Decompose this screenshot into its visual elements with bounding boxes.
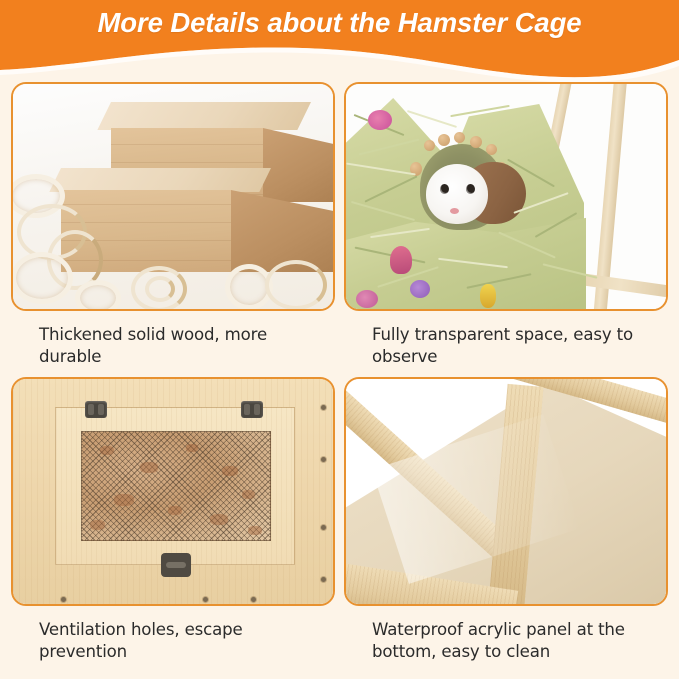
caption-acrylic: Waterproof acrylic panel at the bottom, … — [344, 619, 668, 662]
detail-card-acrylic: Waterproof acrylic panel at the bottom, … — [344, 377, 668, 662]
photo-frame-solid-wood — [11, 82, 335, 311]
hamster-nose — [450, 208, 459, 214]
caption-ventilation: Ventilation holes, escape prevention — [11, 619, 335, 662]
dried-flower — [368, 110, 392, 130]
wood-pellet — [438, 134, 450, 146]
wire-mesh-panel — [81, 431, 271, 541]
screw — [61, 597, 66, 602]
hamster-head — [426, 164, 488, 224]
lid-latch — [161, 553, 191, 577]
caption-solid-wood: Thickened solid wood, more durable — [11, 324, 335, 367]
screw — [321, 577, 326, 582]
photo-ventilation-lid — [13, 379, 333, 604]
detail-card-ventilation: Ventilation holes, escape prevention — [11, 377, 335, 662]
dried-flower — [410, 280, 430, 298]
details-grid: Thickened solid wood, more durable — [0, 82, 679, 679]
photo-solid-wood — [13, 84, 333, 309]
screw — [321, 405, 326, 410]
photo-frame-transparent-space — [344, 82, 668, 311]
wood-beam-upper-end — [263, 128, 333, 202]
dried-flower — [356, 290, 378, 308]
photo-frame-ventilation — [11, 377, 335, 606]
screw — [251, 597, 256, 602]
lid-hinge — [85, 401, 107, 418]
detail-card-transparent-space: Fully transparent space, easy to observe — [344, 82, 668, 367]
photo-frame-acrylic — [344, 377, 668, 606]
dried-flower — [480, 284, 496, 308]
dried-flower — [390, 246, 412, 274]
caption-transparent-space: Fully transparent space, easy to observe — [344, 324, 668, 367]
photo-hamster-in-hay — [346, 84, 666, 309]
header-banner: More Details about the Hamster Cage — [0, 0, 679, 82]
wood-shaving — [145, 276, 175, 302]
wood-pellet — [470, 136, 482, 148]
lid-hinge — [241, 401, 263, 418]
wood-beam-lower-end — [231, 190, 333, 272]
screw — [321, 525, 326, 530]
wood-shaving — [75, 280, 121, 309]
detail-card-solid-wood: Thickened solid wood, more durable — [11, 82, 335, 367]
wood-shaving — [265, 260, 327, 309]
screw — [203, 597, 208, 602]
hamster-eye — [440, 184, 449, 194]
screw — [321, 457, 326, 462]
wood-pellet — [486, 144, 497, 155]
wood-beam-lower-top-face — [49, 168, 271, 192]
photo-acrylic-bottom — [346, 379, 666, 604]
wood-pellet — [454, 132, 465, 143]
wood-pellet — [424, 140, 435, 151]
wood-beam-top-face — [97, 102, 311, 130]
wood-shaving — [13, 252, 73, 304]
hamster-eye — [466, 184, 475, 194]
page-title: More Details about the Hamster Cage — [0, 7, 679, 39]
